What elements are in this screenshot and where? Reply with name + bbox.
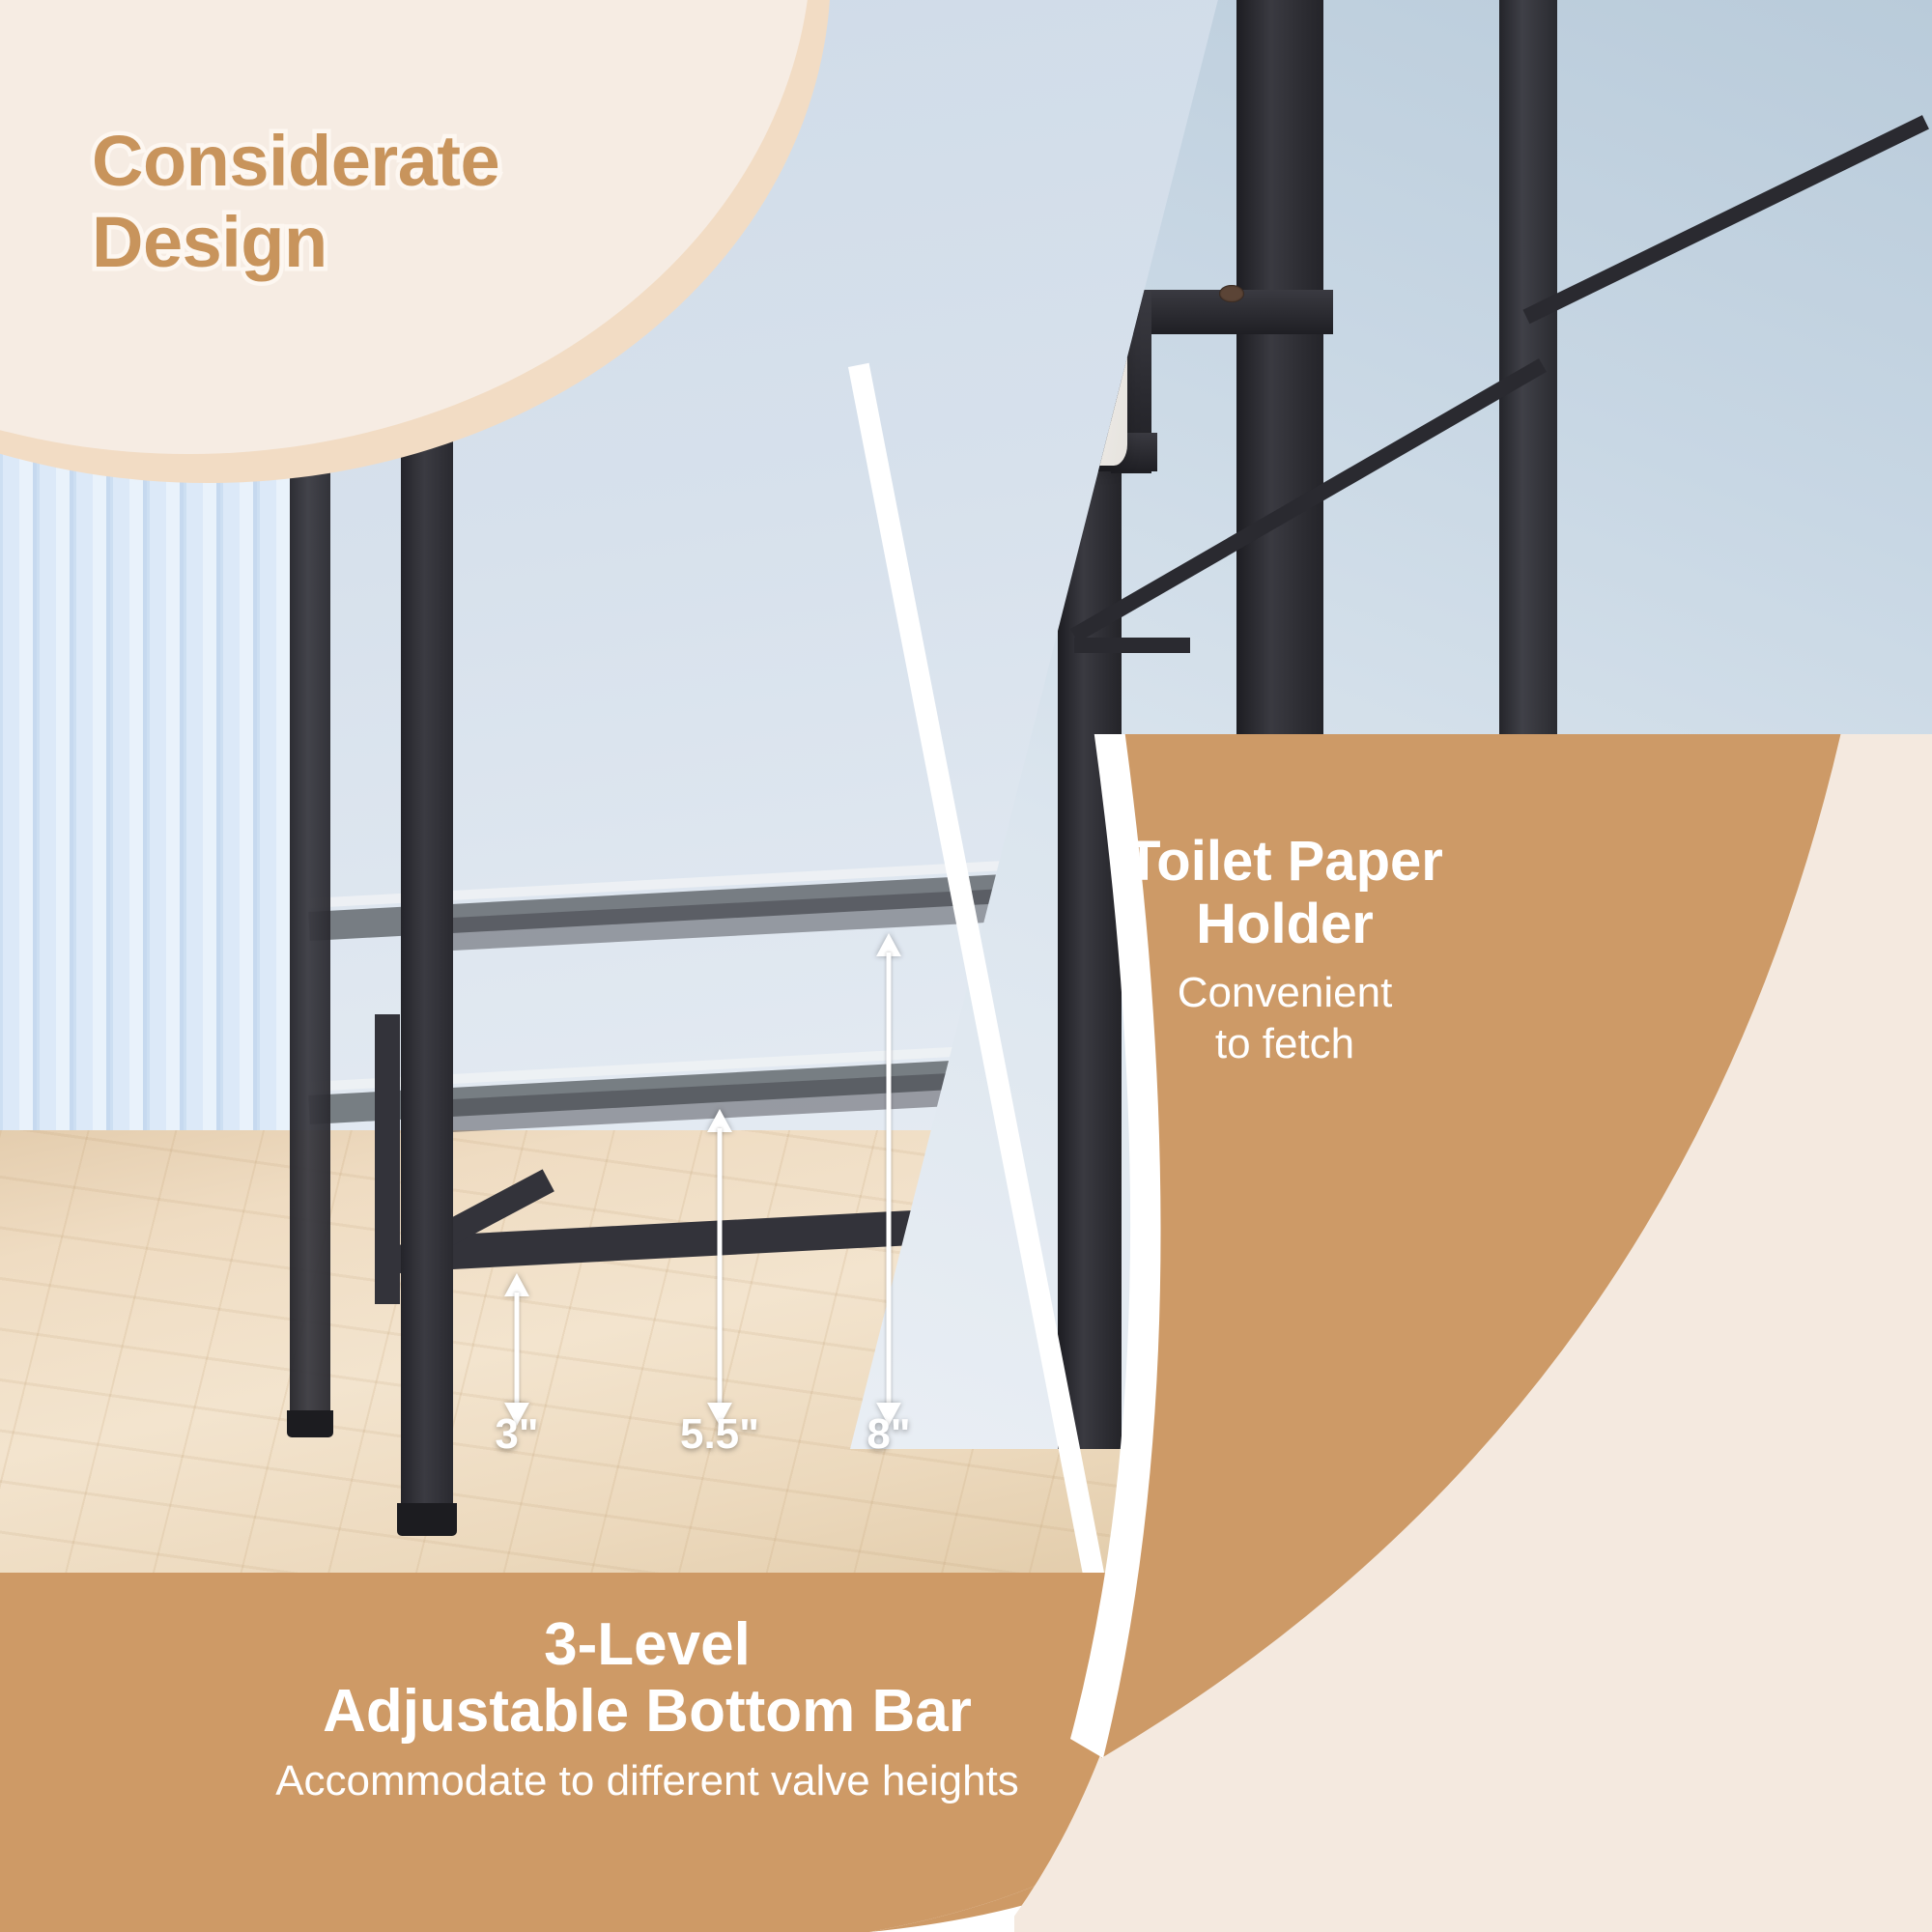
- rear-leg-foot: [287, 1410, 333, 1437]
- cross-rail: [1074, 638, 1190, 653]
- page-title: Considerate Design: [92, 121, 787, 284]
- callout-text-block: Toilet Paper Holder Convenient to fetch: [1014, 831, 1555, 1070]
- callout-subtitle: Convenient to fetch: [1014, 968, 1555, 1070]
- paper-holder-screw-icon: [1219, 285, 1244, 302]
- callout-subtitle-line1: Convenient: [1014, 968, 1555, 1019]
- callout-title-line2: Holder: [1014, 894, 1555, 956]
- dimension-label-8in: 8": [867, 1410, 910, 1459]
- product-feature-graphic: 3" 5.5" 8": [0, 0, 1932, 1932]
- dimension-5-5in: 5.5": [667, 1109, 773, 1457]
- front-leg-foot: [397, 1503, 457, 1536]
- dimension-3in: 3": [473, 1273, 560, 1457]
- rear-leg-post: [375, 1014, 400, 1304]
- dimension-8in: 8": [836, 933, 942, 1457]
- callout-subtitle-line2: to fetch: [1014, 1019, 1555, 1070]
- arrow-shaft-8in: [887, 952, 892, 1406]
- page-title-line2: Design: [92, 202, 787, 283]
- dimension-label-3in: 3": [495, 1410, 538, 1459]
- front-leg-post: [401, 415, 453, 1517]
- toilet-paper-holder-callout: Toilet Paper Holder Convenient to fetch: [1014, 734, 1932, 1932]
- dimension-label-5-5in: 5.5": [680, 1410, 759, 1459]
- arrow-shaft-3in: [515, 1293, 520, 1406]
- page-title-line1: Considerate: [92, 121, 787, 202]
- callout-title-line1: Toilet Paper: [1014, 831, 1555, 894]
- rear-leg-post-tall: [290, 449, 330, 1425]
- arrow-shaft-5-5in: [718, 1128, 723, 1406]
- callout-title: Toilet Paper Holder: [1014, 831, 1555, 956]
